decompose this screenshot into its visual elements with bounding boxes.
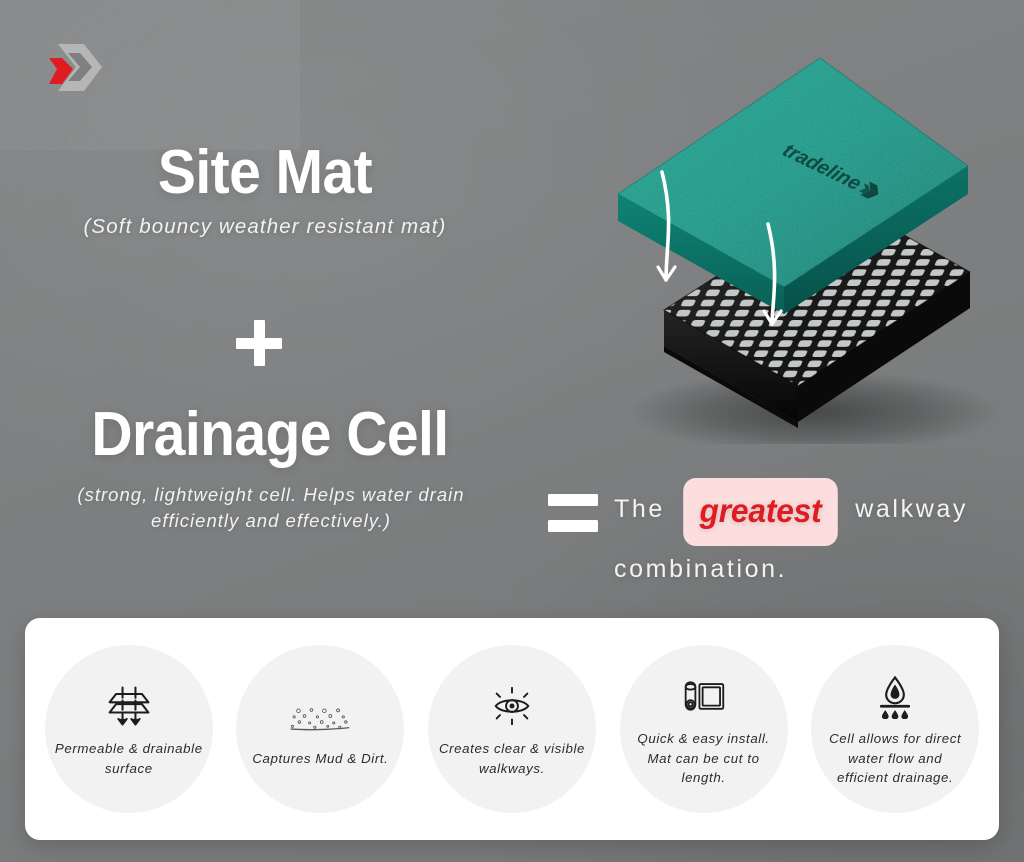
mat-roll-icon — [673, 672, 735, 720]
feature-item-permeable[interactable]: Permeable & drainable surface — [45, 645, 213, 813]
tradeline-logo[interactable] — [44, 40, 110, 96]
poster-canvas: Site Mat (Soft bouncy weather resistant … — [0, 0, 1024, 862]
feature-item-drainage[interactable]: Cell allows for direct water flow and ef… — [811, 645, 979, 813]
product-exploded-view-image: tradeline — [566, 14, 1018, 444]
equals-operator-icon — [548, 492, 600, 536]
product-b-title: Drainage Cell — [22, 404, 519, 466]
feature-item-install[interactable]: Quick & easy install. Mat can be cut to … — [620, 645, 788, 813]
product-a-title: Site Mat — [21, 142, 509, 204]
feature-label: Permeable & drainable surface — [55, 739, 203, 778]
mud-dirt-particles-icon — [289, 692, 351, 740]
feature-label: Creates clear & visible walkways. — [438, 739, 586, 778]
feature-label: Quick & easy install. Mat can be cut to … — [630, 729, 778, 787]
permeable-layers-icon — [98, 682, 160, 730]
features-panel: Permeable & drainable surface — [25, 618, 999, 840]
feature-item-mud-dirt[interactable]: Captures Mud & Dirt. — [236, 645, 404, 813]
feature-label: Captures Mud & Dirt. — [252, 749, 388, 768]
result-second-line: combination. — [614, 555, 787, 583]
feature-label: Cell allows for direct water flow and ef… — [821, 729, 969, 787]
product-b-subtitle: (strong, lightweight cell. Helps water d… — [46, 482, 496, 535]
result-prefix: The — [614, 495, 665, 523]
feature-item-visibility[interactable]: Creates clear & visible walkways. — [428, 645, 596, 813]
result-suffix: walkway — [855, 495, 968, 523]
water-drop-drainage-icon — [864, 672, 926, 720]
result-statement: The greatest walkway combination. — [614, 478, 1014, 592]
product-a-subtitle: (Soft bouncy weather resistant mat) — [60, 212, 470, 241]
greatest-highlight-badge: greatest — [683, 478, 838, 546]
eye-visibility-icon — [481, 682, 543, 730]
chevron-logo-icon — [44, 40, 110, 96]
plus-operator-icon — [228, 312, 290, 374]
